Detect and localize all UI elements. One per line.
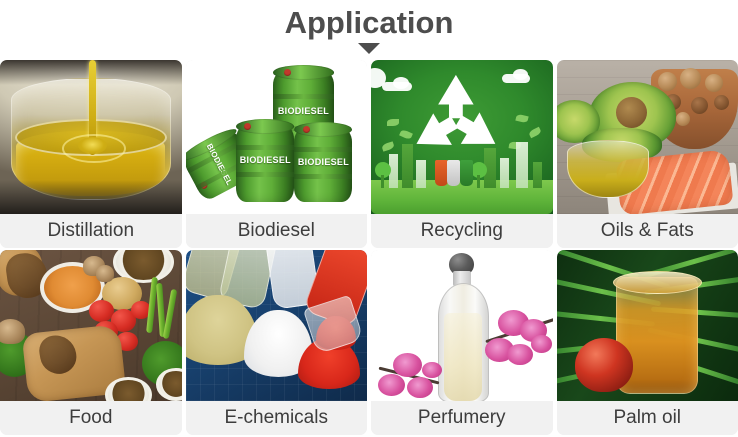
tile-label-food: Food [0,401,182,435]
application-tile-food[interactable]: Food [0,250,182,435]
tile-label-recycling: Recycling [371,214,553,248]
food-image [0,250,182,401]
tile-label-e-chemicals: E-chemicals [186,401,368,435]
application-tile-distillation[interactable]: Distillation [0,60,182,248]
tile-label-biodiesel: Biodiesel [186,214,368,248]
application-tile-e-chemicals[interactable]: E-chemicals [186,250,368,435]
tile-label-oils-and-fats: Oils & Fats [557,214,738,248]
e-chemicals-image [186,250,368,401]
page-title: Application [285,4,454,42]
application-grid: Distillation BIODIESEL BIODIESEL [0,60,738,435]
barrel-label-back: BIODIESEL [273,106,335,116]
recycle-symbol-icon [396,69,516,168]
barrel-label-front-left: BIODIESEL [236,155,294,165]
application-tile-biodiesel[interactable]: BIODIESEL BIODIESEL BIODIESEL [186,60,368,248]
triangle-down-icon [358,43,380,54]
biodiesel-image: BIODIESEL BIODIESEL BIODIESEL [186,60,368,214]
tile-label-distillation: Distillation [0,214,182,248]
tile-label-palm-oil: Palm oil [557,401,738,435]
application-tile-oils-and-fats[interactable]: Oils & Fats [557,60,738,248]
application-tile-palm-oil[interactable]: Palm oil [557,250,738,435]
page-header: Application [0,0,738,60]
application-tile-perfumery[interactable]: Perfumery [371,250,553,435]
recycling-image [371,60,553,214]
perfumery-image [371,250,553,401]
tile-label-perfumery: Perfumery [371,401,553,435]
barrel-label-front-right: BIODIESEL [294,157,352,167]
application-page: Application Distillation [0,0,738,437]
oils-and-fats-image [557,60,738,214]
application-tile-recycling[interactable]: Recycling [371,60,553,248]
palm-oil-image [557,250,738,401]
distillation-image [0,60,182,214]
